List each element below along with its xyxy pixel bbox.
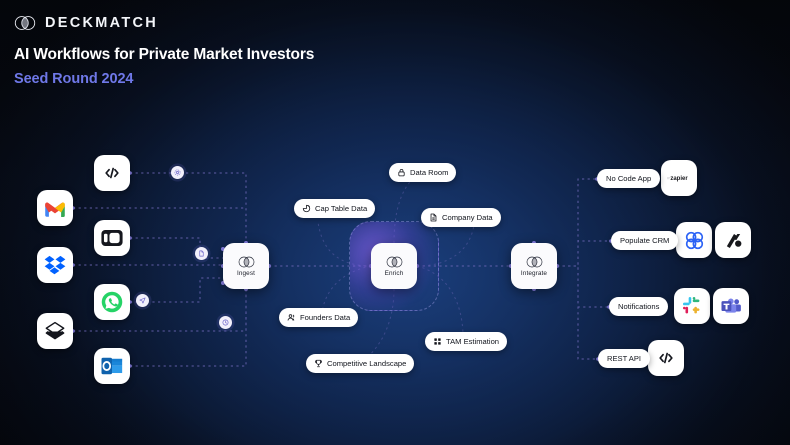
source-tile-layers[interactable] [37,313,73,349]
source-tile-outlook[interactable] [94,348,130,384]
lock-icon [397,168,406,177]
workflow-canvas: DECKMATCH AI Workflows for Private Marke… [0,0,790,445]
venn-circles-icon [238,256,255,268]
brand-name: DECKMATCH [45,15,158,31]
capability-pill-company-data[interactable]: Company Data [421,208,501,227]
source-tile-dropbox[interactable] [37,247,73,283]
attio-icon [723,230,744,251]
node-label: Ingest [237,270,255,277]
node-ingest[interactable]: Ingest [223,243,269,289]
grid-dots-icon [433,337,442,346]
node-label: Integrate [521,270,547,277]
wire-badge-send [136,294,149,307]
venn-circles-icon [526,256,543,268]
venn-circles-logo-icon [14,12,36,34]
wire-badge-gear [171,166,184,179]
app-tile-affinity[interactable] [676,222,712,258]
source-tile-gmail[interactable] [37,190,73,226]
capability-label: Company Data [442,213,493,222]
capability-label: Cap Table Data [315,204,367,213]
source-tile-notion[interactable] [94,220,130,256]
code-brackets-icon [656,348,676,368]
app-tile-rest-code[interactable] [648,340,684,376]
slack-icon [682,296,702,316]
capability-label: Data Room [410,168,448,177]
page-subtitle: Seed Round 2024 [14,71,314,87]
output-pill-notifications[interactable]: Notifications [609,297,668,316]
capability-label: TAM Estimation [446,337,499,346]
page-title: AI Workflows for Private Market Investor… [14,46,314,64]
wire-badge-document [195,247,208,260]
dropbox-icon [44,255,66,275]
capability-label: Competitive Landscape [327,359,406,368]
layers-stack-icon [44,320,66,342]
source-tile-whatsapp[interactable] [94,284,130,320]
capability-pill-data-room[interactable]: Data Room [389,163,456,182]
output-label: REST API [607,354,641,363]
output-label: Notifications [618,302,659,311]
gear-badge-icon [174,169,181,176]
output-pill-no-code-app[interactable]: No Code App [597,169,660,188]
output-label: Populate CRM [620,236,669,245]
document-badge-icon [198,250,205,257]
trophy-icon [314,359,323,368]
affinity-icon [684,230,705,251]
ms-teams-icon [721,297,742,316]
outlook-icon [101,356,123,376]
output-label: No Code App [606,174,651,183]
app-tile-ms-teams[interactable] [713,288,749,324]
venn-circles-icon [386,256,403,268]
brand-logo[interactable]: DECKMATCH [14,12,314,34]
app-tile-slack[interactable] [674,288,710,324]
source-tile-code[interactable] [94,155,130,191]
node-enrich[interactable]: Enrich [371,243,417,289]
code-brackets-icon [102,163,122,183]
document-icon [429,213,438,222]
output-pill-populate-crm[interactable]: Populate CRM [611,231,678,250]
page-header: DECKMATCH AI Workflows for Private Marke… [14,12,314,87]
pie-chart-icon [302,204,311,213]
app-tile-attio[interactable] [715,222,751,258]
send-badge-icon [139,297,146,304]
node-label: Enrich [385,270,404,277]
zapier-icon: zapier [666,172,692,184]
whatsapp-icon [101,291,123,313]
clock-badge-icon [222,319,229,326]
people-icon [287,313,296,322]
capability-pill-cap-table-data[interactable]: Cap Table Data [294,199,375,218]
capability-pill-competitive-landscape[interactable]: Competitive Landscape [306,354,414,373]
node-integrate[interactable]: Integrate [511,243,557,289]
app-tile-zapier[interactable]: zapier [661,160,697,196]
capability-pill-tam-estimation[interactable]: TAM Estimation [425,332,507,351]
wire-badge-clock [219,316,232,329]
gmail-icon [44,200,66,217]
notion-doc-icon [101,229,123,247]
capability-pill-founders-data[interactable]: Founders Data [279,308,358,327]
output-pill-rest-api[interactable]: REST API [598,349,650,368]
svg-text:zapier: zapier [670,176,688,182]
capability-label: Founders Data [300,313,350,322]
